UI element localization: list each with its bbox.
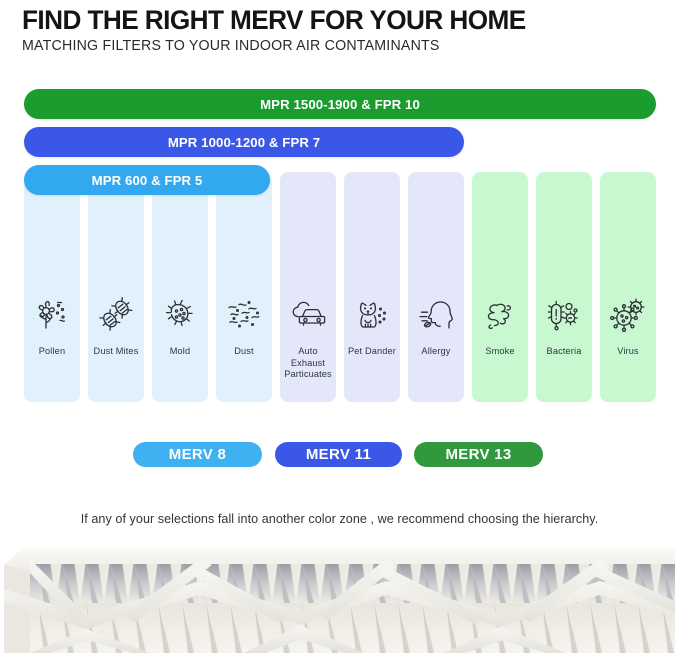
- column-pet-dander[interactable]: Pet Dander: [344, 172, 400, 402]
- page-title: FIND THE RIGHT MERV FOR YOUR HOME: [22, 6, 643, 34]
- mpr-bar-1000-1200[interactable]: MPR 1000-1200 & FPR 7: [24, 127, 464, 157]
- column-label: Dust: [218, 346, 270, 358]
- column-label: Bacteria: [538, 346, 590, 358]
- column-label: Virus: [602, 346, 654, 358]
- flower-icon: [29, 292, 75, 338]
- dust-mite-icon: [93, 292, 139, 338]
- mpr-bar-1500-1900[interactable]: MPR 1500-1900 & FPR 10: [24, 89, 656, 119]
- column-smoke[interactable]: Smoke: [472, 172, 528, 402]
- pleated-air-filter-photo: [0, 537, 679, 653]
- header: FIND THE RIGHT MERV FOR YOUR HOME MATCHI…: [22, 6, 662, 55]
- mpr-bar-label: MPR 1000-1200 & FPR 7: [168, 135, 320, 150]
- mold-spore-icon: [157, 292, 203, 338]
- column-auto-exhaust[interactable]: Auto Exhaust Particuates: [280, 172, 336, 402]
- dog-icon: [349, 292, 395, 338]
- bacteria-icon: [541, 292, 587, 338]
- dust-icon: [221, 292, 267, 338]
- merv-legend: MERV 8 MERV 11 MERV 13: [0, 442, 679, 468]
- merv-13-badge[interactable]: MERV 13: [414, 442, 543, 467]
- column-label: Auto Exhaust Particuates: [282, 346, 334, 381]
- contaminant-columns: Pollen Dust Mites: [24, 172, 656, 402]
- car-exhaust-icon: [285, 292, 331, 338]
- infographic-page: FIND THE RIGHT MERV FOR YOUR HOME MATCHI…: [0, 0, 679, 653]
- mpr-bar-label: MPR 600 & FPR 5: [92, 173, 203, 188]
- smoke-icon: [477, 292, 523, 338]
- column-virus[interactable]: Virus: [600, 172, 656, 402]
- mpr-bar-600[interactable]: MPR 600 & FPR 5: [24, 165, 270, 195]
- column-mold[interactable]: Mold: [152, 172, 208, 402]
- column-label: Pet Dander: [346, 346, 398, 358]
- column-dust[interactable]: Dust: [216, 172, 272, 402]
- column-allergy[interactable]: Allergy: [408, 172, 464, 402]
- column-label: Dust Mites: [90, 346, 142, 358]
- virus-icon: [605, 292, 651, 338]
- merv-badge-label: MERV 8: [169, 446, 226, 463]
- page-subtitle: MATCHING FILTERS TO YOUR INDOOR AIR CONT…: [22, 39, 649, 55]
- column-bacteria[interactable]: Bacteria: [536, 172, 592, 402]
- column-label: Smoke: [474, 346, 526, 358]
- column-pollen[interactable]: Pollen: [24, 172, 80, 402]
- merv-8-badge[interactable]: MERV 8: [133, 442, 262, 467]
- hierarchy-note: If any of your selections fall into anot…: [0, 512, 679, 526]
- column-label: Mold: [154, 346, 206, 358]
- merv-11-badge[interactable]: MERV 11: [275, 442, 402, 467]
- sneeze-head-icon: [413, 292, 459, 338]
- merv-badge-label: MERV 11: [306, 446, 371, 463]
- column-label: Allergy: [410, 346, 462, 358]
- mpr-bar-label: MPR 1500-1900 & FPR 10: [260, 97, 420, 112]
- column-dust-mites[interactable]: Dust Mites: [88, 172, 144, 402]
- merv-badge-label: MERV 13: [445, 446, 511, 463]
- column-label: Pollen: [26, 346, 78, 358]
